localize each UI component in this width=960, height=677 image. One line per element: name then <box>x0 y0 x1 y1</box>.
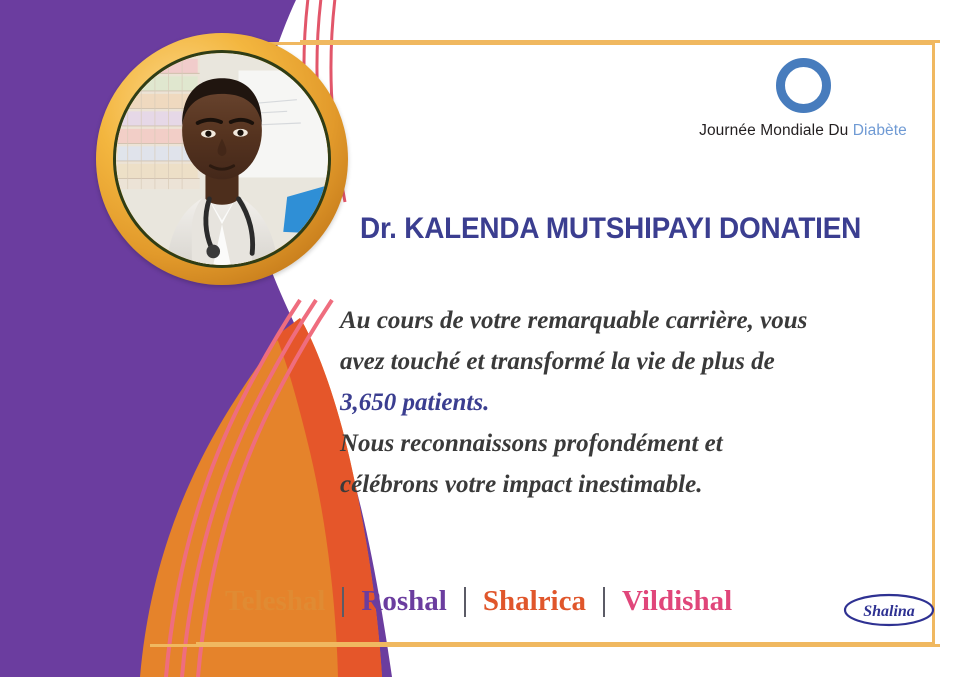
message-line-3: Nous reconnaissons profondément et <box>340 423 910 464</box>
brand-roshal: Roshal <box>361 585 446 618</box>
message-line-4: célébrons votre impact inestimable. <box>340 464 910 505</box>
message-line-1: Au cours de votre remarquable carrière, … <box>340 300 910 341</box>
brand-separator <box>464 587 466 617</box>
shalina-logo-text: Shalina <box>863 603 915 620</box>
award-poster: Journée Mondiale Du Diabète Dr. KALENDA … <box>0 0 960 677</box>
honoree-photo-frame <box>96 33 348 285</box>
brand-shalrica: Shalrica <box>483 585 586 618</box>
honoree-name: Dr. KALENDA MUTSHIPAYI DONATIEN <box>360 212 881 246</box>
award-message: Au cours de votre remarquable carrière, … <box>340 300 910 505</box>
world-diabetes-day-logo: Journée Mondiale Du Diabète <box>678 58 928 140</box>
shalina-logo: Shalina <box>843 590 935 630</box>
message-line-2: avez touché et transformé la vie de plus… <box>340 341 910 382</box>
world-diabetes-day-label: Journée Mondiale Du Diabète <box>678 122 928 140</box>
message-patient-count: 3,650 patients. <box>340 382 910 423</box>
brand-separator <box>342 587 344 617</box>
brand-vildishal: Vildishal <box>622 585 732 618</box>
photo-inner-ring <box>113 50 331 268</box>
diabetes-blue-circle-icon <box>776 58 831 113</box>
wdd-text-highlight: Diabète <box>853 122 907 139</box>
brand-teleshal: Teleshal <box>225 585 325 618</box>
brand-list: Teleshal Roshal Shalrica Vildishal <box>225 585 732 618</box>
brand-separator <box>603 587 605 617</box>
wdd-text-primary: Journée Mondiale Du <box>699 122 848 139</box>
honoree-portrait-image <box>116 53 328 265</box>
